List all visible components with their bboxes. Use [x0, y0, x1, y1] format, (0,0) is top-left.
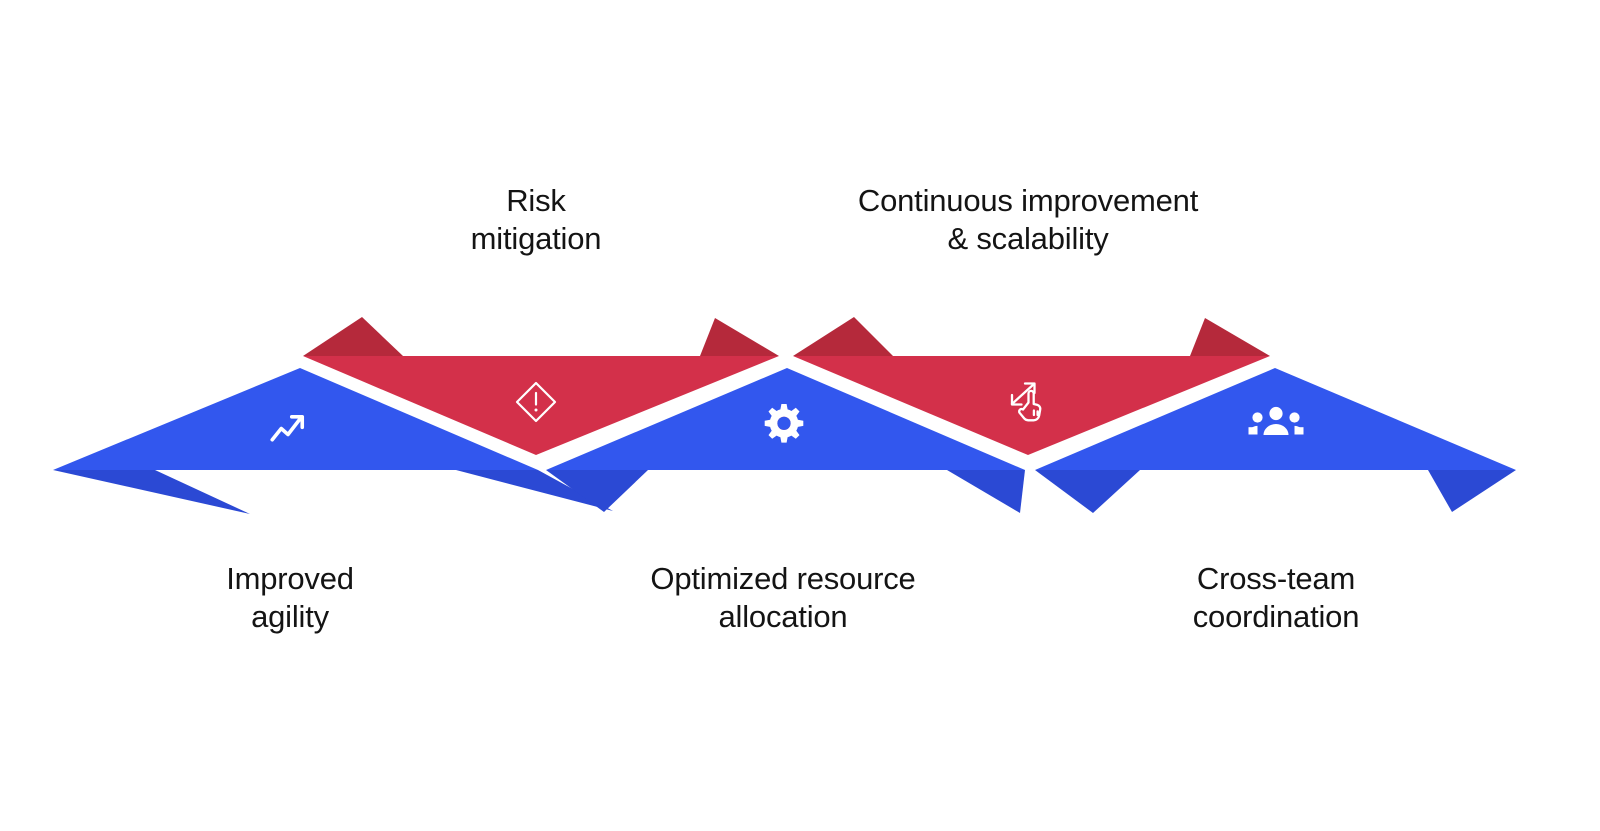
diagram-canvas: Improved agility Risk mitigation Optimiz… [0, 0, 1600, 831]
segment-label-cross-team-coordination: Cross-team coordination [1076, 560, 1476, 636]
arrow-barb-left-blue-3 [1035, 470, 1140, 513]
segment-label-optimized-resource-allocation: Optimized resource allocation [533, 560, 1033, 636]
arrow-barb-right-blue-2 [947, 470, 1025, 513]
arrow-barb-right-red-1 [700, 318, 779, 356]
segment-label-improved-agility: Improved agility [90, 560, 490, 636]
arrow-barb-left-blue-1 [53, 470, 250, 514]
segment-label-continuous-improvement-scalability: Continuous improvement & scalability [728, 182, 1328, 258]
gear-icon [765, 404, 804, 443]
arrow-barb-left-red-1 [303, 317, 403, 356]
arrow-barb-left-red-2 [793, 317, 893, 356]
arrow-barb-right-red-2 [1190, 318, 1270, 356]
arrow-barb-right-blue-3 [1428, 470, 1516, 512]
segment-label-risk-mitigation: Risk mitigation [336, 182, 736, 258]
chevron-arrows-graphic [0, 0, 1600, 831]
